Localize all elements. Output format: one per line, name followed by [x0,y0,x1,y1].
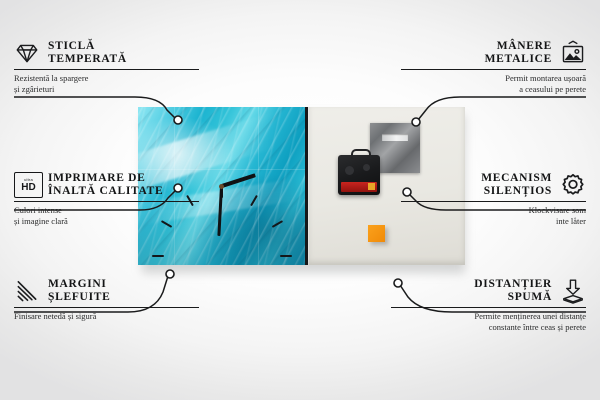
callout-title: DISTANȚIER SPUMĂ [474,278,552,304]
callout-divider [14,307,199,308]
press-down-icon [560,278,586,304]
dial-tick [250,195,258,206]
mechanism-knob [363,164,370,171]
mechanism-knob [345,166,354,175]
callout-subtitle: Rezistentă la spargere și zgârieturi [14,73,199,94]
mechanism-hook [351,149,371,159]
dial-tick [152,255,164,257]
callout-subtitle: Finisare netedă și sigură [14,311,199,322]
dial-tick [280,255,292,257]
aa-battery [341,182,377,192]
battery-plus-terminal [368,183,375,190]
clock-minute-hand [217,186,223,236]
callout-title: MECANISM SILENȚIOS [481,172,552,198]
gear-icon [560,172,586,198]
callout-subtitle: Permite menținerea unei distanțe constan… [391,311,586,332]
callout-print-quality: ultra HD IMPRIMARE DE ÎNALTĂ CALITATE Cu… [14,172,199,226]
infographic-canvas: STICLĂ TEMPERATĂ Rezistentă la spargere … [0,0,600,400]
clock-hour-hand [221,173,256,188]
callout-tempered-glass: STICLĂ TEMPERATĂ Rezistentă la spargere … [14,40,199,94]
callout-title: MARGINI ȘLEFUITE [48,278,110,304]
ultra-hd-icon: ultra HD [14,172,40,198]
ultra-hd-icon-main-label: HD [21,183,35,193]
callout-foam-spacer: DISTANȚIER SPUMĂ Permite menținerea unei… [391,278,586,332]
callout-metal-handles: MÂNERE METALICE Permit montarea ușoară a… [401,40,586,94]
callout-polished-edges: MARGINI ȘLEFUITE Finisare netedă și sigu… [14,278,199,322]
callout-divider [391,307,586,308]
callout-divider [14,69,199,70]
ultra-hd-icon-upper-label: ultra [24,178,33,182]
callout-divider [401,201,586,202]
callout-title: STICLĂ TEMPERATĂ [48,40,127,66]
callout-subtitle: Culori intense și imagine clară [14,205,199,226]
callout-subtitle: Klockvisare som inte låter [401,205,586,226]
quartz-clock-mechanism [338,155,380,195]
orange-foam-spacer [368,225,385,242]
callout-subtitle: Permit montarea ușoară a ceasului pe per… [401,73,586,94]
dial-tick [271,220,282,228]
callout-title: MÂNERE METALICE [485,40,552,66]
callout-divider [401,69,586,70]
diamond-icon [14,40,40,66]
picture-hanger-icon [560,40,586,66]
callout-title: IMPRIMARE DE ÎNALTĂ CALITATE [48,172,163,198]
callout-silent-mechanism: MECANISM SILENȚIOS Klockvisare som inte … [401,172,586,226]
hanger-slot [382,134,408,141]
clock-center-cap [219,184,224,189]
hatch-lines-icon [14,278,40,304]
callout-divider [14,201,199,202]
